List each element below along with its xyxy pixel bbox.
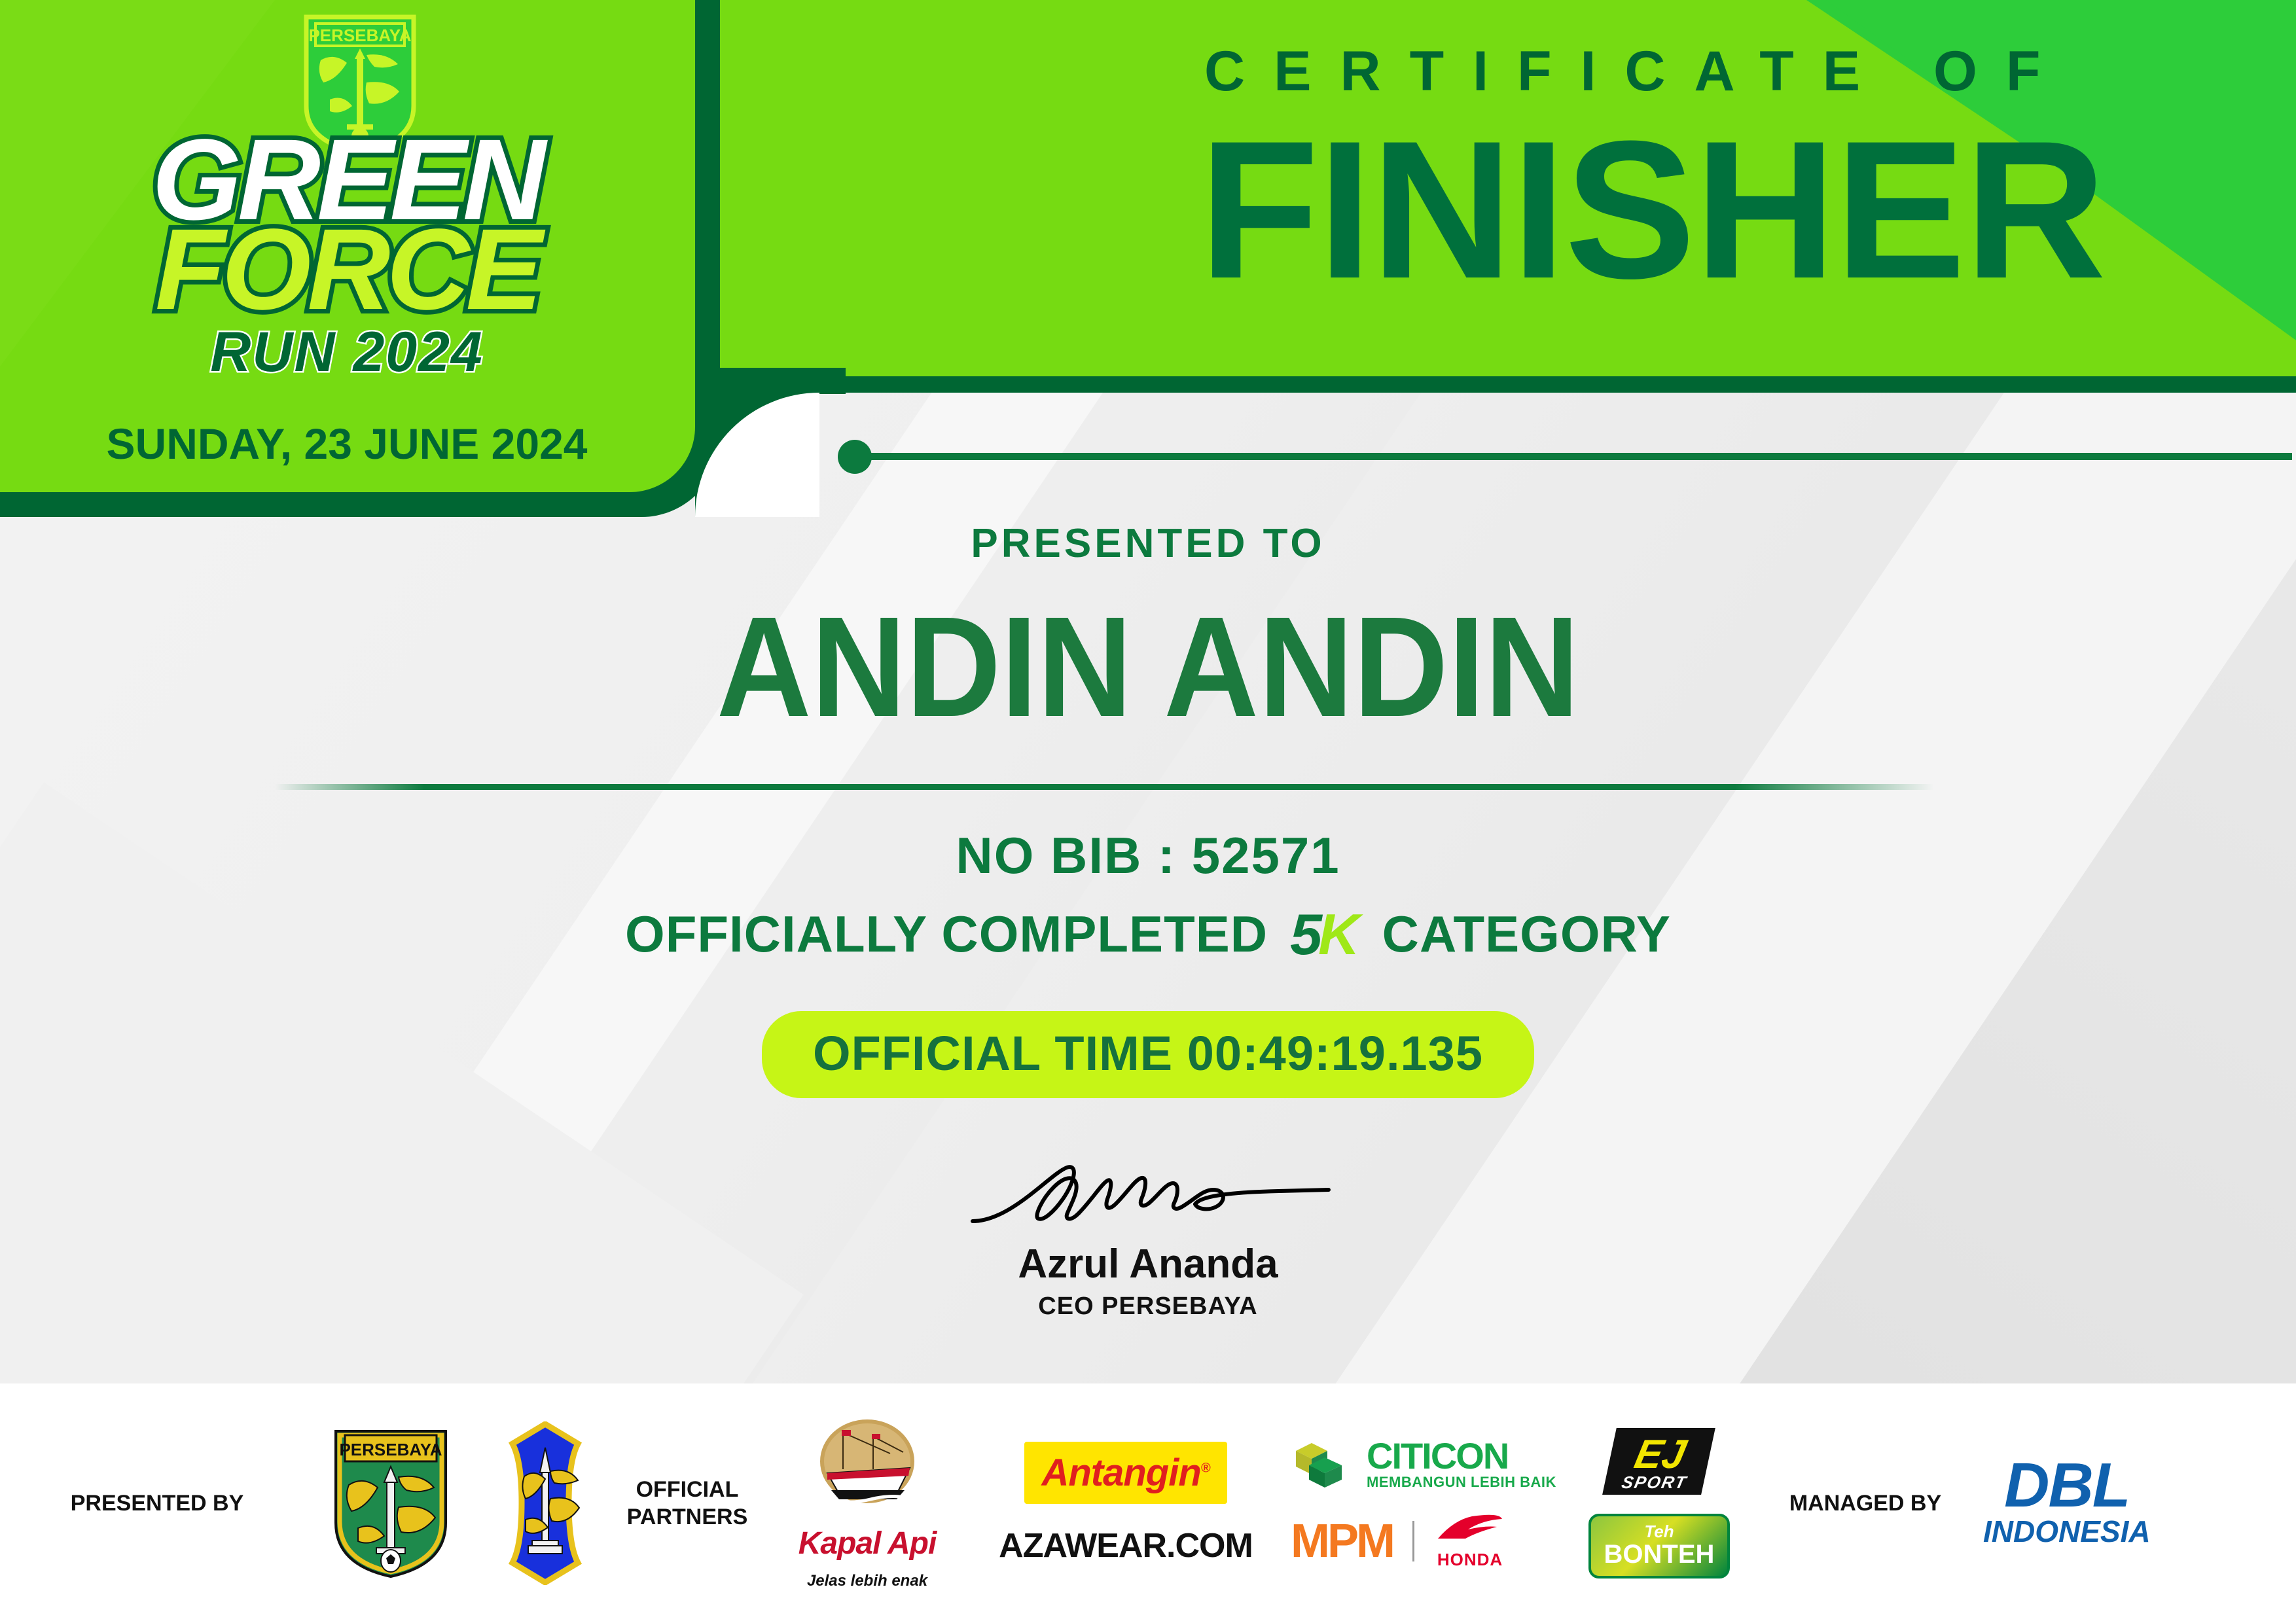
svg-text:PERSEBAYA: PERSEBAYA [339, 1440, 442, 1459]
signatory-role: CEO PERSEBAYA [0, 1293, 2296, 1321]
sponsor-bonteh-text: BONTEH [1604, 1541, 1715, 1568]
sponsor-dbl-sub: INDONESIA [1983, 1514, 2151, 1549]
certificate-title-line1: CERTIFICATE OF [1204, 39, 2069, 104]
sponsor-antangin-mark: ® [1201, 1461, 1210, 1475]
header-notch [695, 393, 819, 517]
sponsor-honda-text: HONDA [1434, 1550, 1506, 1570]
surabaya-city-logo-icon [486, 1421, 604, 1585]
green-force-run-logo: GREEN FORCE RUN 2024 [39, 131, 655, 380]
event-date: SUNDAY, 23 JUNE 2024 [39, 419, 655, 469]
sponsor-kapal-api-tagline: Jelas lebih enak [807, 1572, 927, 1590]
sponsor-dbl-indonesia: DBL INDONESIA [1983, 1457, 2151, 1549]
sponsor-ej-tagline: SPORT [1621, 1474, 1689, 1490]
category-5k-letter: K [1318, 908, 1360, 960]
sponsor-mpm-honda: MPM HONDA [1291, 1512, 1506, 1570]
sponsor-footer: PRESENTED BY PERSEBAYA [0, 1383, 2296, 1623]
svg-text:PERSEBAYA: PERSEBAYA [308, 26, 411, 45]
sponsor-antangin-text: Antangin [1041, 1452, 1200, 1494]
signature-icon [939, 1158, 1357, 1237]
honda-wing-icon [1434, 1512, 1506, 1546]
sponsor-ej-text: EJ [1624, 1436, 1697, 1474]
sponsor-antangin: Antangin® [1024, 1442, 1227, 1504]
recipient-name: ANDIN ANDIN [92, 586, 2204, 749]
official-partners-label: OFFICIAL PARTNERS [627, 1476, 748, 1531]
official-time-text: OFFICIAL TIME 00:49:19.135 [762, 1011, 1534, 1098]
managed-by-label: MANAGED BY [1789, 1489, 1941, 1518]
logo-word-run: RUN 2024 [39, 324, 655, 380]
name-divider [275, 784, 1934, 790]
certificate-page: PERSEBAYA GREEN FORCE RUN 2024 SUNDAY, 2… [0, 0, 2296, 1623]
sponsor-azawear: AZAWEAR.COM [999, 1526, 1253, 1565]
category-row: OFFICIALLY COMPLETED 5K CATEGORY [0, 904, 2296, 964]
logo-word-force: FORCE [39, 221, 655, 319]
accent-line [865, 453, 2292, 460]
citicon-cube-icon [1291, 1436, 1347, 1493]
official-time-badge: OFFICIAL TIME 00:49:19.135 [0, 1011, 2296, 1098]
signatory-name: Azrul Ananda [0, 1241, 2296, 1287]
sponsor-bonteh-prefix: Teh [1604, 1523, 1715, 1541]
sponsor-kapal-api-text: Kapal Api [798, 1525, 937, 1561]
persebaya-logo-icon: PERSEBAYA [325, 1425, 456, 1582]
completed-prefix: OFFICIALLY COMPLETED [625, 904, 1268, 964]
sponsor-citicon-tagline: MEMBANGUN LEBIH BAIK [1367, 1474, 1556, 1491]
sponsor-citicon-text: CITICON [1367, 1438, 1556, 1473]
category-5k-digit: 5 [1290, 908, 1322, 960]
completed-suffix: CATEGORY [1382, 904, 1671, 964]
sponsor-citicon: CITICON MEMBANGUN LEBIH BAIK [1291, 1436, 1556, 1493]
signature-block: Azrul Ananda CEO PERSEBAYA [0, 1158, 2296, 1321]
sponsor-dbl-text: DBL [1983, 1457, 2151, 1514]
kapal-api-ship-icon [805, 1417, 929, 1515]
sponsor-kapal-api: Kapal Api Jelas lebih enak [798, 1417, 937, 1590]
bib-number: NO BIB : 52571 [0, 826, 2296, 885]
sponsor-ej-sport: EJ SPORT [1603, 1428, 1716, 1495]
presented-by-label: PRESENTED BY [71, 1489, 244, 1518]
category-5k-badge-icon: 5K [1290, 908, 1360, 960]
sponsor-teh-bonteh: Teh BONTEH [1588, 1514, 1731, 1578]
presented-to-label: PRESENTED TO [0, 520, 2296, 567]
certificate-title-line2: FINISHER [1199, 111, 2105, 308]
header-notch-top [695, 368, 846, 394]
sponsor-mpm-text: MPM [1291, 1514, 1393, 1568]
